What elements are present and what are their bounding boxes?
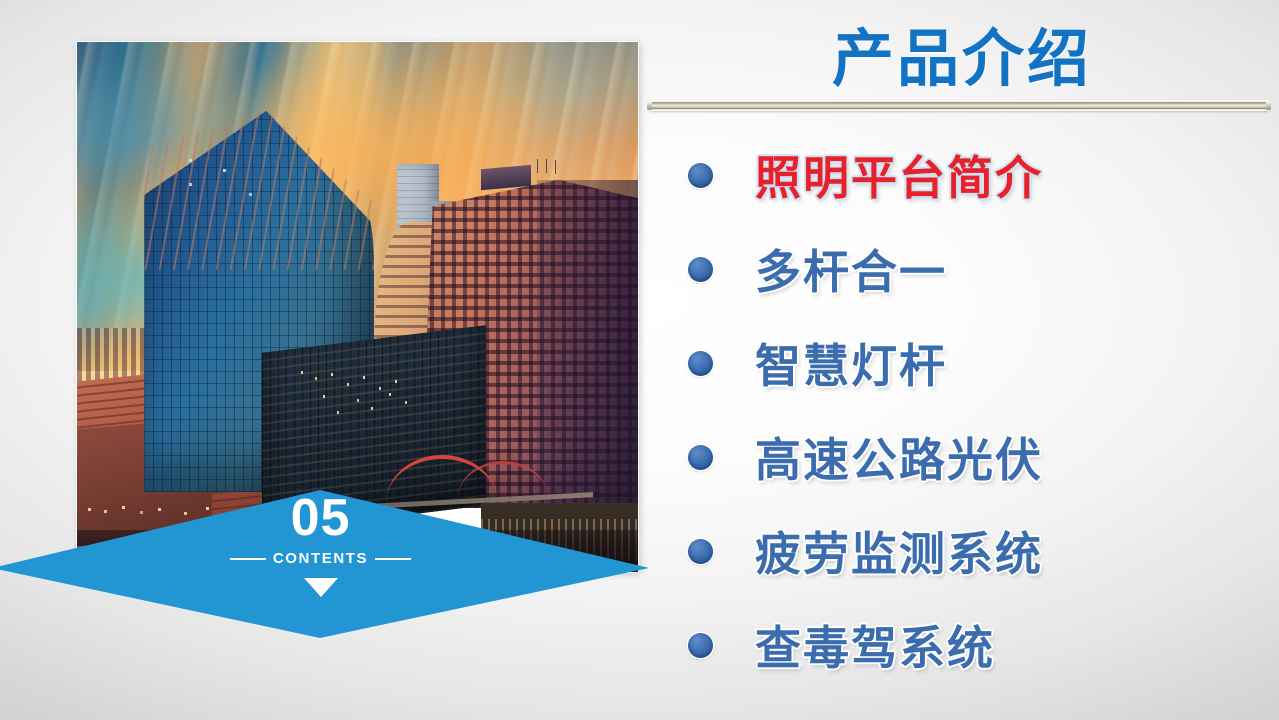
list-item[interactable]: 多杆合一	[645, 222, 1279, 316]
bullet-wrap	[645, 351, 755, 376]
bullet-circle-icon	[688, 539, 713, 564]
rule-right	[375, 558, 411, 560]
bullet-wrap	[645, 539, 755, 564]
caret-down-icon	[304, 578, 338, 597]
title-divider	[649, 100, 1269, 111]
rule-left	[230, 558, 266, 560]
list-item-label: 疲劳监测系统	[755, 518, 1043, 584]
contents-label: CONTENTS	[273, 550, 368, 567]
bullet-wrap	[645, 633, 755, 658]
list-item-label: 查毒驾系统	[755, 612, 995, 678]
bullet-wrap	[645, 163, 755, 188]
list-item-label: 智慧灯杆	[755, 330, 947, 396]
list-item[interactable]: 照明平台简介	[645, 128, 1279, 222]
bullet-circle-icon	[688, 351, 713, 376]
list-item-label: 多杆合一	[755, 236, 947, 302]
bullet-wrap	[645, 257, 755, 282]
slide-canvas: 05 CONTENTS 产品介绍 照明平台简介 多杆合一	[0, 0, 1279, 720]
roof-antenna	[537, 159, 538, 173]
list-item-label: 高速公路光伏	[755, 424, 1043, 490]
building-roof	[481, 164, 531, 190]
list-item[interactable]: 疲劳监测系统	[645, 504, 1279, 598]
list-item[interactable]: 智慧灯杆	[645, 316, 1279, 410]
bullet-wrap	[645, 445, 755, 470]
tower-window-lights	[189, 159, 192, 162]
contents-banner-text: 05 CONTENTS	[0, 448, 641, 638]
lit-windows	[301, 371, 303, 374]
section-number: 05	[291, 494, 351, 543]
right-panel: 产品介绍 照明平台简介 多杆合一 智慧灯杆	[645, 0, 1279, 720]
bullet-circle-icon	[688, 633, 713, 658]
page-title: 产品介绍	[645, 8, 1279, 98]
list-item[interactable]: 查毒驾系统	[645, 598, 1279, 692]
bullet-circle-icon	[688, 163, 713, 188]
list-item[interactable]: 高速公路光伏	[645, 410, 1279, 504]
bullet-circle-icon	[688, 257, 713, 282]
contents-list: 照明平台简介 多杆合一 智慧灯杆 高速公路光伏	[645, 128, 1279, 692]
contents-label-row: CONTENTS	[230, 550, 411, 567]
list-item-label: 照明平台简介	[755, 142, 1043, 208]
bullet-circle-icon	[688, 445, 713, 470]
